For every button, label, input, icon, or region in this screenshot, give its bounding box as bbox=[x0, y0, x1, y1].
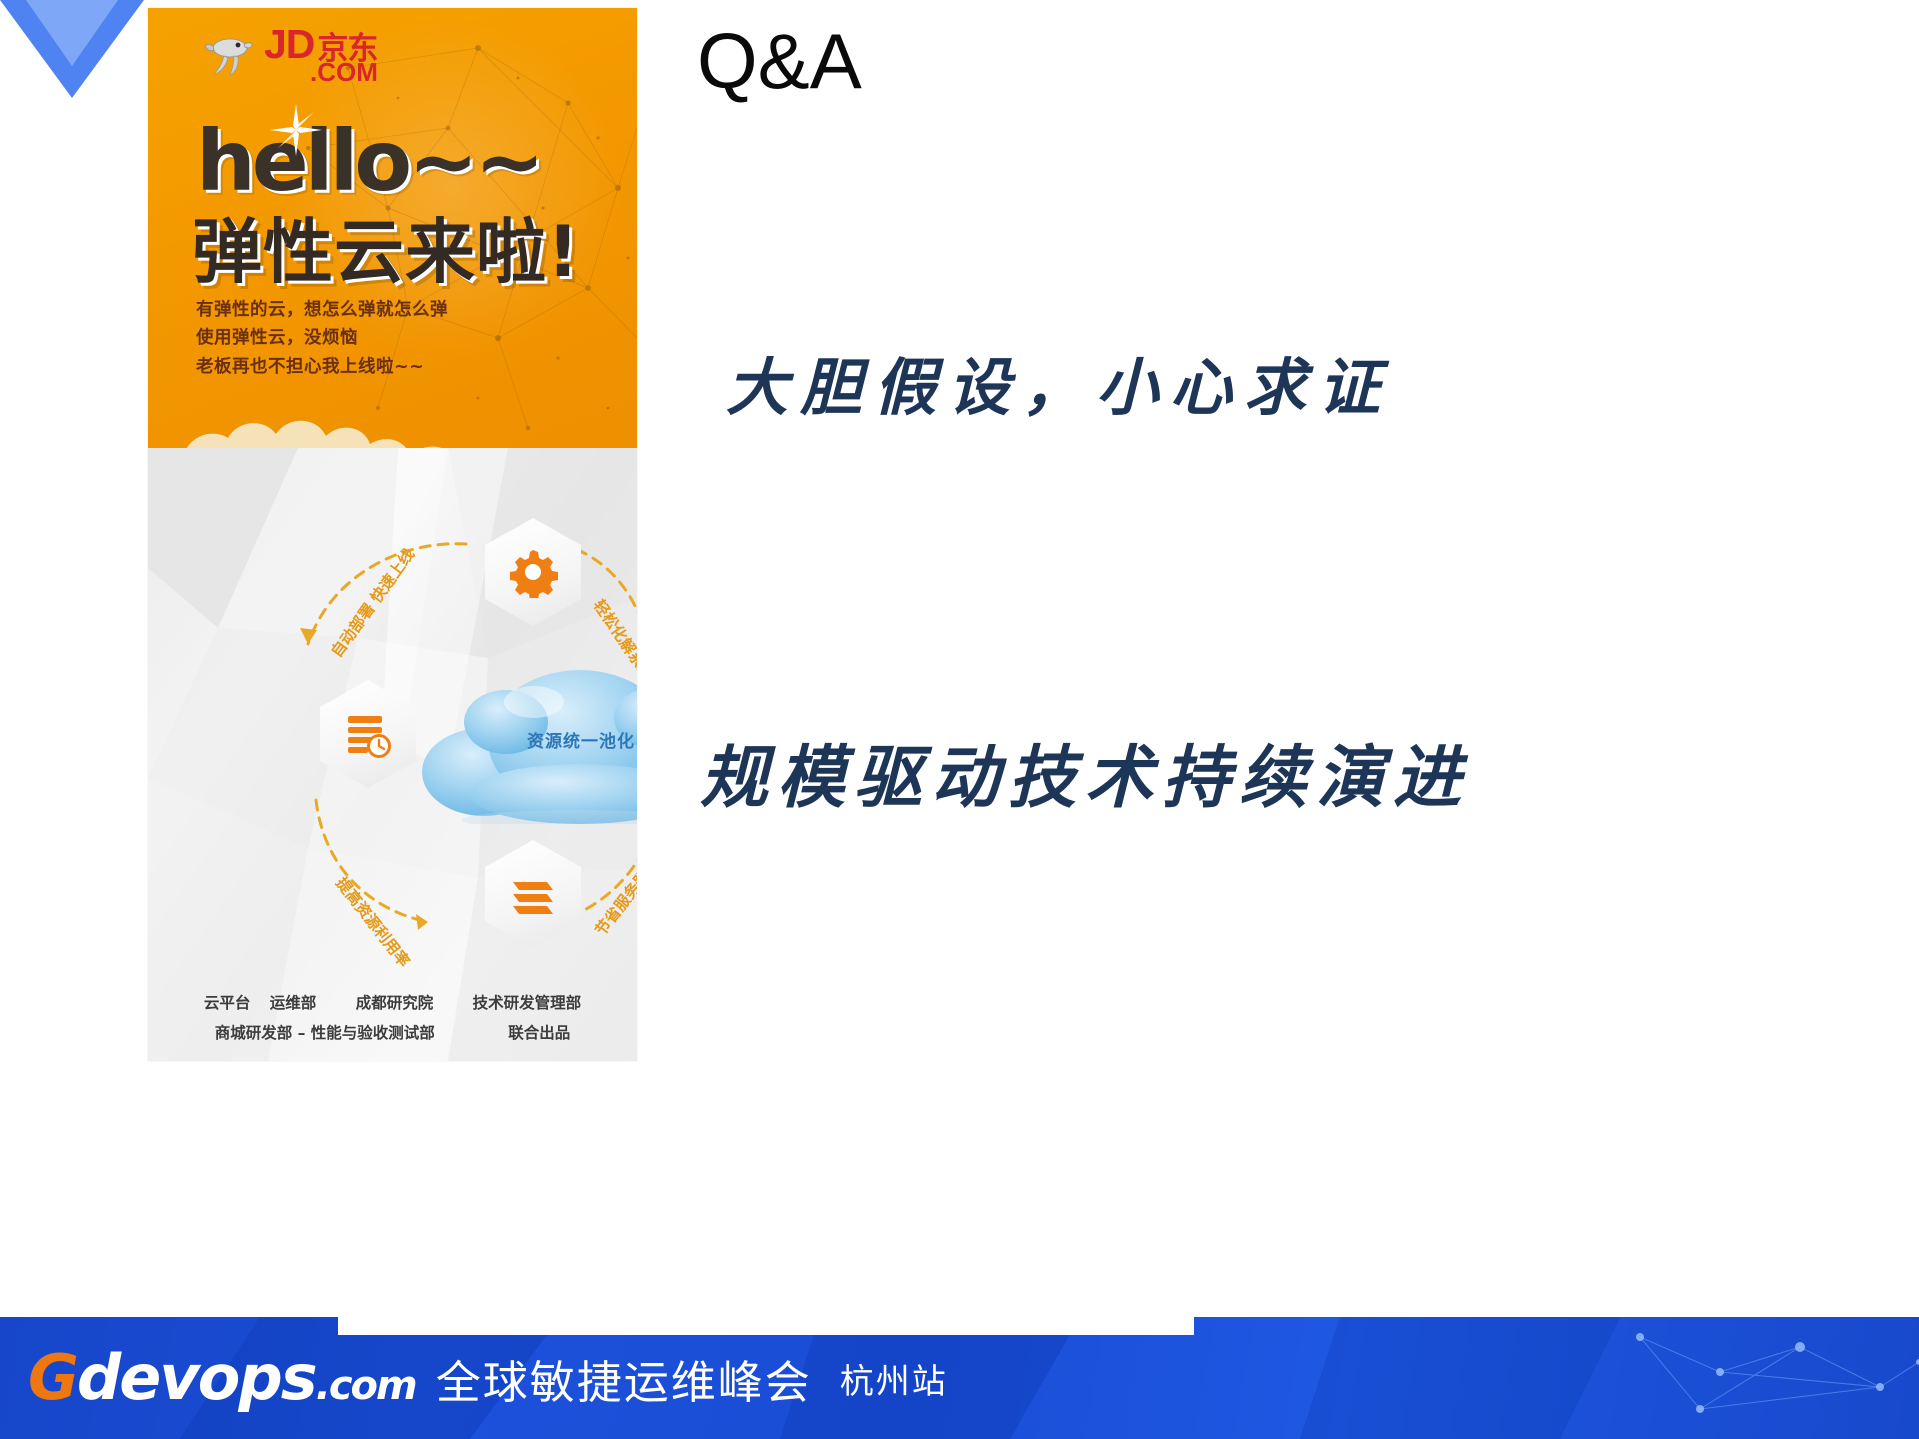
credit-1c: 成都研究院 bbox=[356, 994, 434, 1012]
banner-content: Gdevops.com 全球敏捷运维峰会 杭州站 bbox=[28, 1317, 948, 1439]
footer-banner: Gdevops.com 全球敏捷运维峰会 杭州站 bbox=[0, 1317, 1919, 1439]
jd-brand-logo: JD 京东 .COM bbox=[204, 26, 378, 85]
credit-1d: 技术研发管理部 bbox=[473, 994, 582, 1012]
jd-elastic-cloud-poster: JD 京东 .COM hello~~ 弹性云来啦! 有弹性的云，想怎么弹就怎么弹… bbox=[148, 8, 637, 1061]
poster-tagline-2: 使用弹性云，没烦恼 bbox=[196, 324, 448, 352]
poster-tagline-3: 老板再也不担心我上线啦~~ bbox=[196, 353, 448, 381]
jd-latin: JD bbox=[264, 26, 314, 64]
poster-tagline-1: 有弹性的云，想怎么弹就怎么弹 bbox=[196, 296, 448, 324]
credit-1a: 云平台 bbox=[204, 994, 251, 1012]
headline-secondary: 规模驱动技术持续演进 bbox=[700, 722, 1470, 821]
credit-2b: 联合出品 bbox=[508, 1024, 570, 1042]
gdevops-logo: Gdevops.com bbox=[28, 1347, 416, 1409]
corner-triangle-logo bbox=[0, 0, 145, 112]
page-title: Q&A bbox=[697, 16, 862, 107]
gdevops-logo-rest: devops bbox=[77, 1341, 316, 1414]
layers-icon bbox=[507, 868, 559, 920]
gear-icon bbox=[507, 546, 559, 598]
credit-1b: 运维部 bbox=[270, 994, 317, 1012]
gdevops-logo-g: G bbox=[28, 1341, 77, 1414]
conference-name: 全球敏捷运维峰会 bbox=[436, 1346, 812, 1411]
banner-top-notch bbox=[338, 1317, 1194, 1335]
poster-top-section: JD 京东 .COM hello~~ 弹性云来啦! 有弹性的云，想怎么弹就怎么弹… bbox=[148, 8, 637, 460]
poster-taglines: 有弹性的云，想怎么弹就怎么弹 使用弹性云，没烦恼 老板再也不担心我上线啦~~ bbox=[196, 296, 448, 381]
headline-primary: 大胆假设，小心求证 bbox=[726, 337, 1392, 427]
jd-wordmark: JD 京东 .COM bbox=[264, 26, 378, 85]
jd-dog-icon bbox=[204, 32, 258, 76]
credit-2a: 商城研发部 – 性能与验收测试部 bbox=[215, 1024, 435, 1042]
gdevops-logo-com: .com bbox=[316, 1363, 416, 1409]
poster-bottom-section: 自动部署 快速上线 轻松化解系统压力 提高资源利用率 节省服务器开销 bbox=[148, 448, 637, 1061]
sparkle-icon bbox=[266, 100, 326, 160]
poster-cloud-label: 资源统一池化 bbox=[478, 727, 637, 752]
poster-credits: 云平台 运维部 成都研究院 技术研发管理部 商城研发部 – 性能与验收测试部 联… bbox=[148, 988, 637, 1048]
triangle-inner-shape bbox=[26, 0, 118, 66]
conference-city: 杭州站 bbox=[840, 1354, 948, 1403]
database-clock-icon bbox=[342, 708, 394, 760]
poster-headline: 弹性云来啦! bbox=[192, 196, 580, 297]
